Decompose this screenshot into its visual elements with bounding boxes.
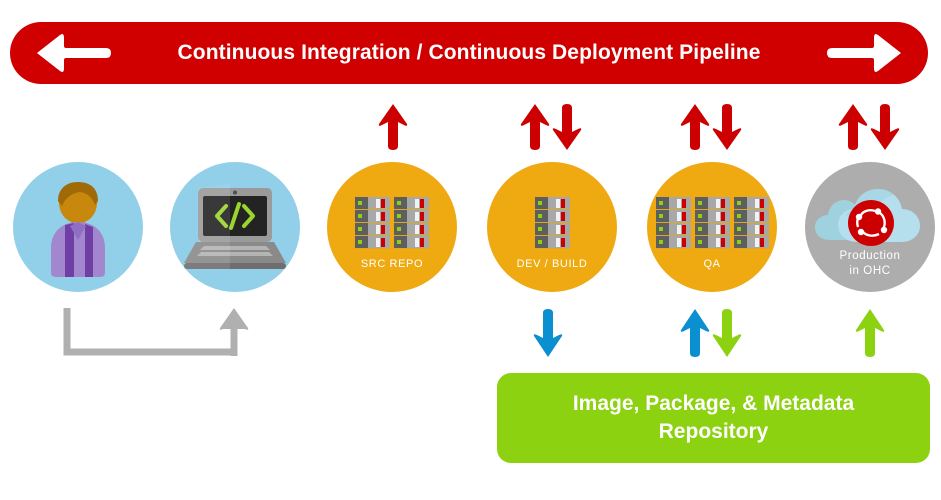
arrow-up-prod-icon bbox=[838, 103, 868, 156]
node-label-srcrepo: SRC REPO bbox=[327, 257, 457, 271]
server-rack-icon bbox=[647, 162, 777, 292]
arrow-up-prod-repo-icon bbox=[855, 308, 885, 363]
arrow-up-srcrepo-icon bbox=[378, 103, 408, 156]
node-prod[interactable]: Production in OHC bbox=[805, 162, 935, 292]
arrow-down-devbuild-icon bbox=[552, 103, 582, 156]
feedback-connector bbox=[62, 308, 252, 365]
arrow-down-qa-icon bbox=[712, 103, 742, 156]
person-icon bbox=[13, 162, 143, 292]
server-rack-icon bbox=[327, 162, 457, 292]
diagram-canvas: Continuous Integration / Continuous Depl… bbox=[0, 0, 941, 500]
node-label-prod: Production in OHC bbox=[805, 249, 935, 279]
arrow-up-devbuild-icon bbox=[520, 103, 550, 156]
pipeline-banner: Continuous Integration / Continuous Depl… bbox=[10, 22, 928, 84]
node-label-qa: QA bbox=[647, 257, 777, 271]
node-laptop[interactable] bbox=[170, 162, 300, 292]
arrow-up-qa-icon bbox=[680, 103, 710, 156]
repository-label-line1: Image, Package, & Metadata bbox=[573, 392, 854, 415]
arrow-right-icon bbox=[826, 33, 904, 78]
arrow-down-prod-icon bbox=[870, 103, 900, 156]
node-person[interactable] bbox=[13, 162, 143, 292]
laptop-code-icon bbox=[170, 162, 300, 292]
arrow-down-devbuild-repo-icon bbox=[533, 308, 563, 363]
banner-title: Continuous Integration / Continuous Depl… bbox=[10, 22, 928, 84]
repository-label-line2: Repository bbox=[659, 420, 769, 443]
arrow-up-qa-repo-icon bbox=[680, 308, 710, 363]
arrow-down-qa-repo-icon bbox=[712, 308, 742, 363]
server-rack-icon bbox=[487, 162, 617, 292]
repository-label: Image, Package, & Metadata Repository bbox=[547, 390, 880, 446]
node-devbuild[interactable]: DEV / BUILD bbox=[487, 162, 617, 292]
node-qa[interactable]: QA bbox=[647, 162, 777, 292]
node-label-prod-line2: in OHC bbox=[849, 265, 890, 277]
repository-box[interactable]: Image, Package, & Metadata Repository bbox=[497, 373, 930, 463]
node-label-devbuild: DEV / BUILD bbox=[487, 257, 617, 271]
node-label-prod-line1: Production bbox=[840, 250, 901, 262]
node-srcrepo[interactable]: SRC REPO bbox=[327, 162, 457, 292]
